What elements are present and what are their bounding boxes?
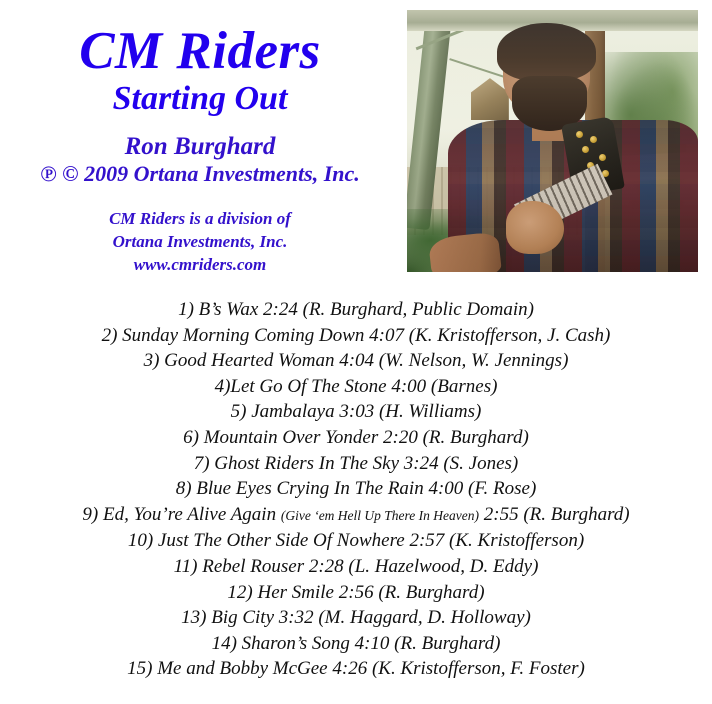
photo-color-grade [407, 10, 698, 272]
track-line: 4)Let Go Of The Stone 4:00 (Barnes) [0, 374, 712, 400]
imprint-block: CM Riders is a division of Ortana Invest… [0, 186, 400, 277]
track-line: 2) Sunday Morning Coming Down 4:07 (K. K… [0, 323, 712, 349]
track-line: 10) Just The Other Side Of Nowhere 2:57 … [0, 528, 712, 554]
track-subtitle: (Give ‘em Hell Up There In Heaven) [281, 508, 479, 523]
artist-photo [407, 10, 698, 272]
artist-name: Ron Burghard [0, 117, 400, 161]
track-line: 13) Big City 3:32 (M. Haggard, D. Hollow… [0, 605, 712, 631]
album-header-block: CM Riders Starting Out Ron Burghard ℗ © … [0, 0, 400, 285]
imprint-line-1: CM Riders is a division of [0, 208, 400, 231]
track-line: 11) Rebel Rouser 2:28 (L. Hazelwood, D. … [0, 554, 712, 580]
track-line: 3) Good Hearted Woman 4:04 (W. Nelson, W… [0, 348, 712, 374]
track-line: 5) Jambalaya 3:03 (H. Williams) [0, 399, 712, 425]
copyright-line: ℗ © 2009 Ortana Investments, Inc. [0, 160, 400, 186]
track-line: 12) Her Smile 2:56 (R. Burghard) [0, 580, 712, 606]
track-line: 6) Mountain Over Yonder 2:20 (R. Burghar… [0, 425, 712, 451]
track-line: 14) Sharon’s Song 4:10 (R. Burghard) [0, 631, 712, 657]
imprint-line-2: Ortana Investments, Inc. [0, 231, 400, 254]
page-title: CM Riders [0, 0, 400, 78]
track-line: 1) B’s Wax 2:24 (R. Burghard, Public Dom… [0, 297, 712, 323]
album-subtitle: Starting Out [0, 78, 400, 117]
track-line: 9) Ed, You’re Alive Again (Give ‘em Hell… [0, 502, 712, 529]
track-line: 15) Me and Bobby McGee 4:26 (K. Kristoff… [0, 656, 712, 682]
track-listing: 1) B’s Wax 2:24 (R. Burghard, Public Dom… [0, 297, 712, 682]
track-line: 7) Ghost Riders In The Sky 3:24 (S. Jone… [0, 451, 712, 477]
track-line: 8) Blue Eyes Crying In The Rain 4:00 (F.… [0, 476, 712, 502]
track-title: 9) Ed, You’re Alive Again [82, 504, 280, 525]
track-credit: 2:55 (R. Burghard) [479, 504, 630, 525]
website-url: www.cmriders.com [0, 254, 400, 277]
